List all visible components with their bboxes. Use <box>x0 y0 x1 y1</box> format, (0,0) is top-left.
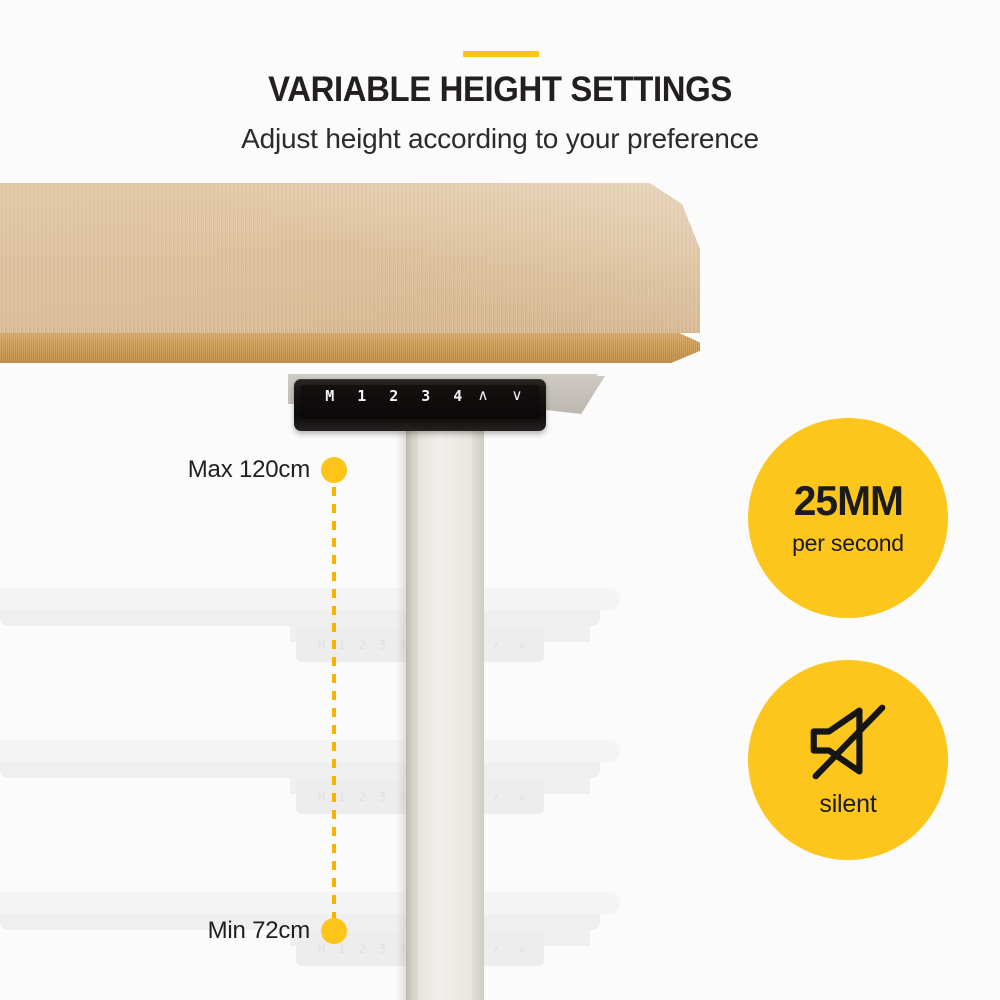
silent-badge: silent <box>748 660 948 860</box>
ghost-desk-edge <box>0 610 600 626</box>
ghost-desk-1: M1234 ∧∨ <box>0 588 660 668</box>
ghost-desk-top <box>0 740 620 762</box>
product-feature-graphic: VARIABLE HEIGHT SETTINGS Adjust height a… <box>0 0 1000 1000</box>
desk-leg-column-face <box>418 428 472 1000</box>
max-height-label: Max 120cm <box>100 456 310 484</box>
silent-badge-caption: silent <box>819 790 876 819</box>
ghost-desk-2: M1234 ∧∨ <box>0 740 660 820</box>
desk-surface <box>0 183 700 333</box>
speaker-mute-icon <box>800 702 896 780</box>
min-height-marker-dot <box>321 918 347 944</box>
ghost-arrows: ∧∨ <box>492 638 526 652</box>
speed-badge-value: 25MM <box>793 480 902 522</box>
speed-badge-caption: per second <box>792 530 904 557</box>
ghost-desk-top <box>0 588 620 610</box>
ghost-arrows: ∧∨ <box>492 790 526 804</box>
ghost-keys: M1234 <box>318 942 406 956</box>
ghost-desk-edge <box>0 762 600 778</box>
desk-front-edge <box>0 331 700 363</box>
min-height-label: Min 72cm <box>100 917 310 945</box>
height-range-dashed-line <box>332 470 336 930</box>
max-height-marker-dot <box>321 457 347 483</box>
page-title: VARIABLE HEIGHT SETTINGS <box>30 70 970 110</box>
ghost-arrows: ∧∨ <box>492 942 526 956</box>
desk-top-assembly <box>0 183 720 443</box>
ghost-desk-top <box>0 892 620 914</box>
accent-bar <box>463 51 539 57</box>
speed-badge: 25MM per second <box>748 418 948 618</box>
page-subtitle: Adjust height according to your preferen… <box>0 123 1000 155</box>
